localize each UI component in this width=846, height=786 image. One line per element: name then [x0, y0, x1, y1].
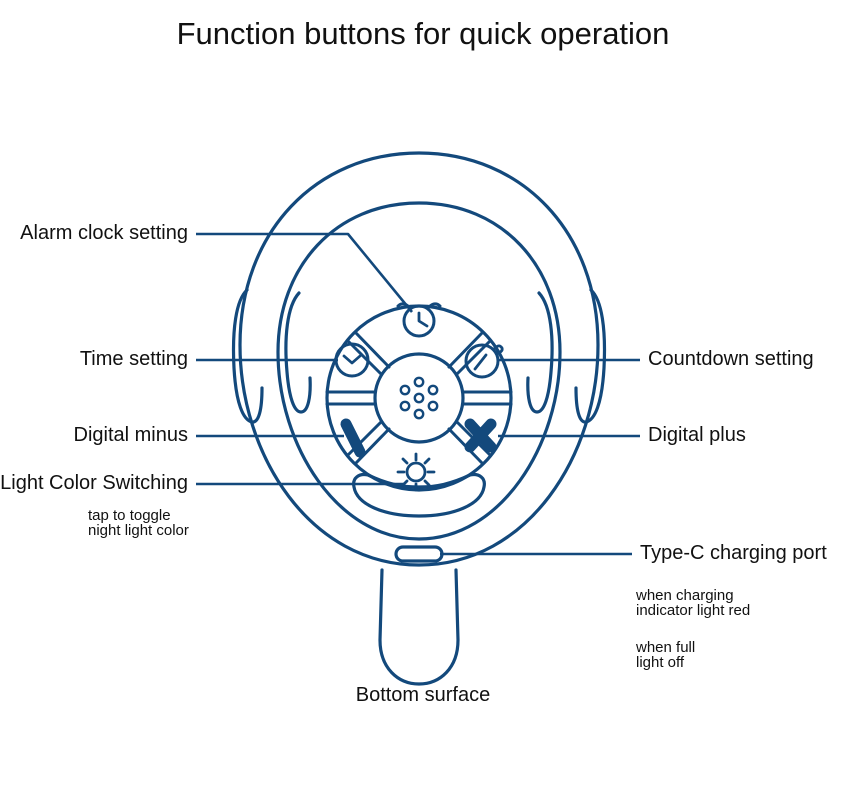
diagram-canvas: Function buttons for quick operation: [0, 0, 846, 786]
label-countdown-setting: Countdown setting: [648, 348, 814, 370]
label-alarm-clock-setting: Alarm clock setting: [0, 222, 188, 244]
device-left-wing: [286, 293, 310, 412]
speaker-grille: [401, 378, 437, 418]
label-type-c-charging-port: Type-C charging port: [640, 542, 827, 564]
minus-icon: [346, 424, 360, 452]
label-digital-plus: Digital plus: [648, 424, 746, 446]
device-illustration: [0, 0, 846, 786]
label-light-color-switching: Light Color Switching: [0, 472, 188, 494]
note-light-color-line2: night light color: [88, 523, 189, 538]
note-charging-line2: indicator light red: [636, 603, 750, 618]
clock-icon: [336, 344, 368, 376]
plus-icon: [470, 424, 491, 447]
device-stand: [380, 570, 458, 684]
note-charging-line1: when charging: [636, 588, 750, 603]
note-light-color-line1: tap to toggle: [88, 508, 189, 523]
leader-alarm: [196, 234, 412, 312]
caption-bottom-surface: Bottom surface: [0, 684, 846, 706]
note-charging: when charging indicator light red: [636, 588, 750, 618]
device-right-wing: [528, 293, 552, 412]
note-full-line1: when full: [636, 640, 695, 655]
note-full-line2: light off: [636, 655, 695, 670]
label-digital-minus: Digital minus: [0, 424, 188, 446]
note-full: when full light off: [636, 640, 695, 670]
usb-c-port-icon: [396, 547, 442, 561]
label-time-setting: Time setting: [0, 348, 188, 370]
note-light-color: tap to toggle night light color: [88, 508, 189, 538]
